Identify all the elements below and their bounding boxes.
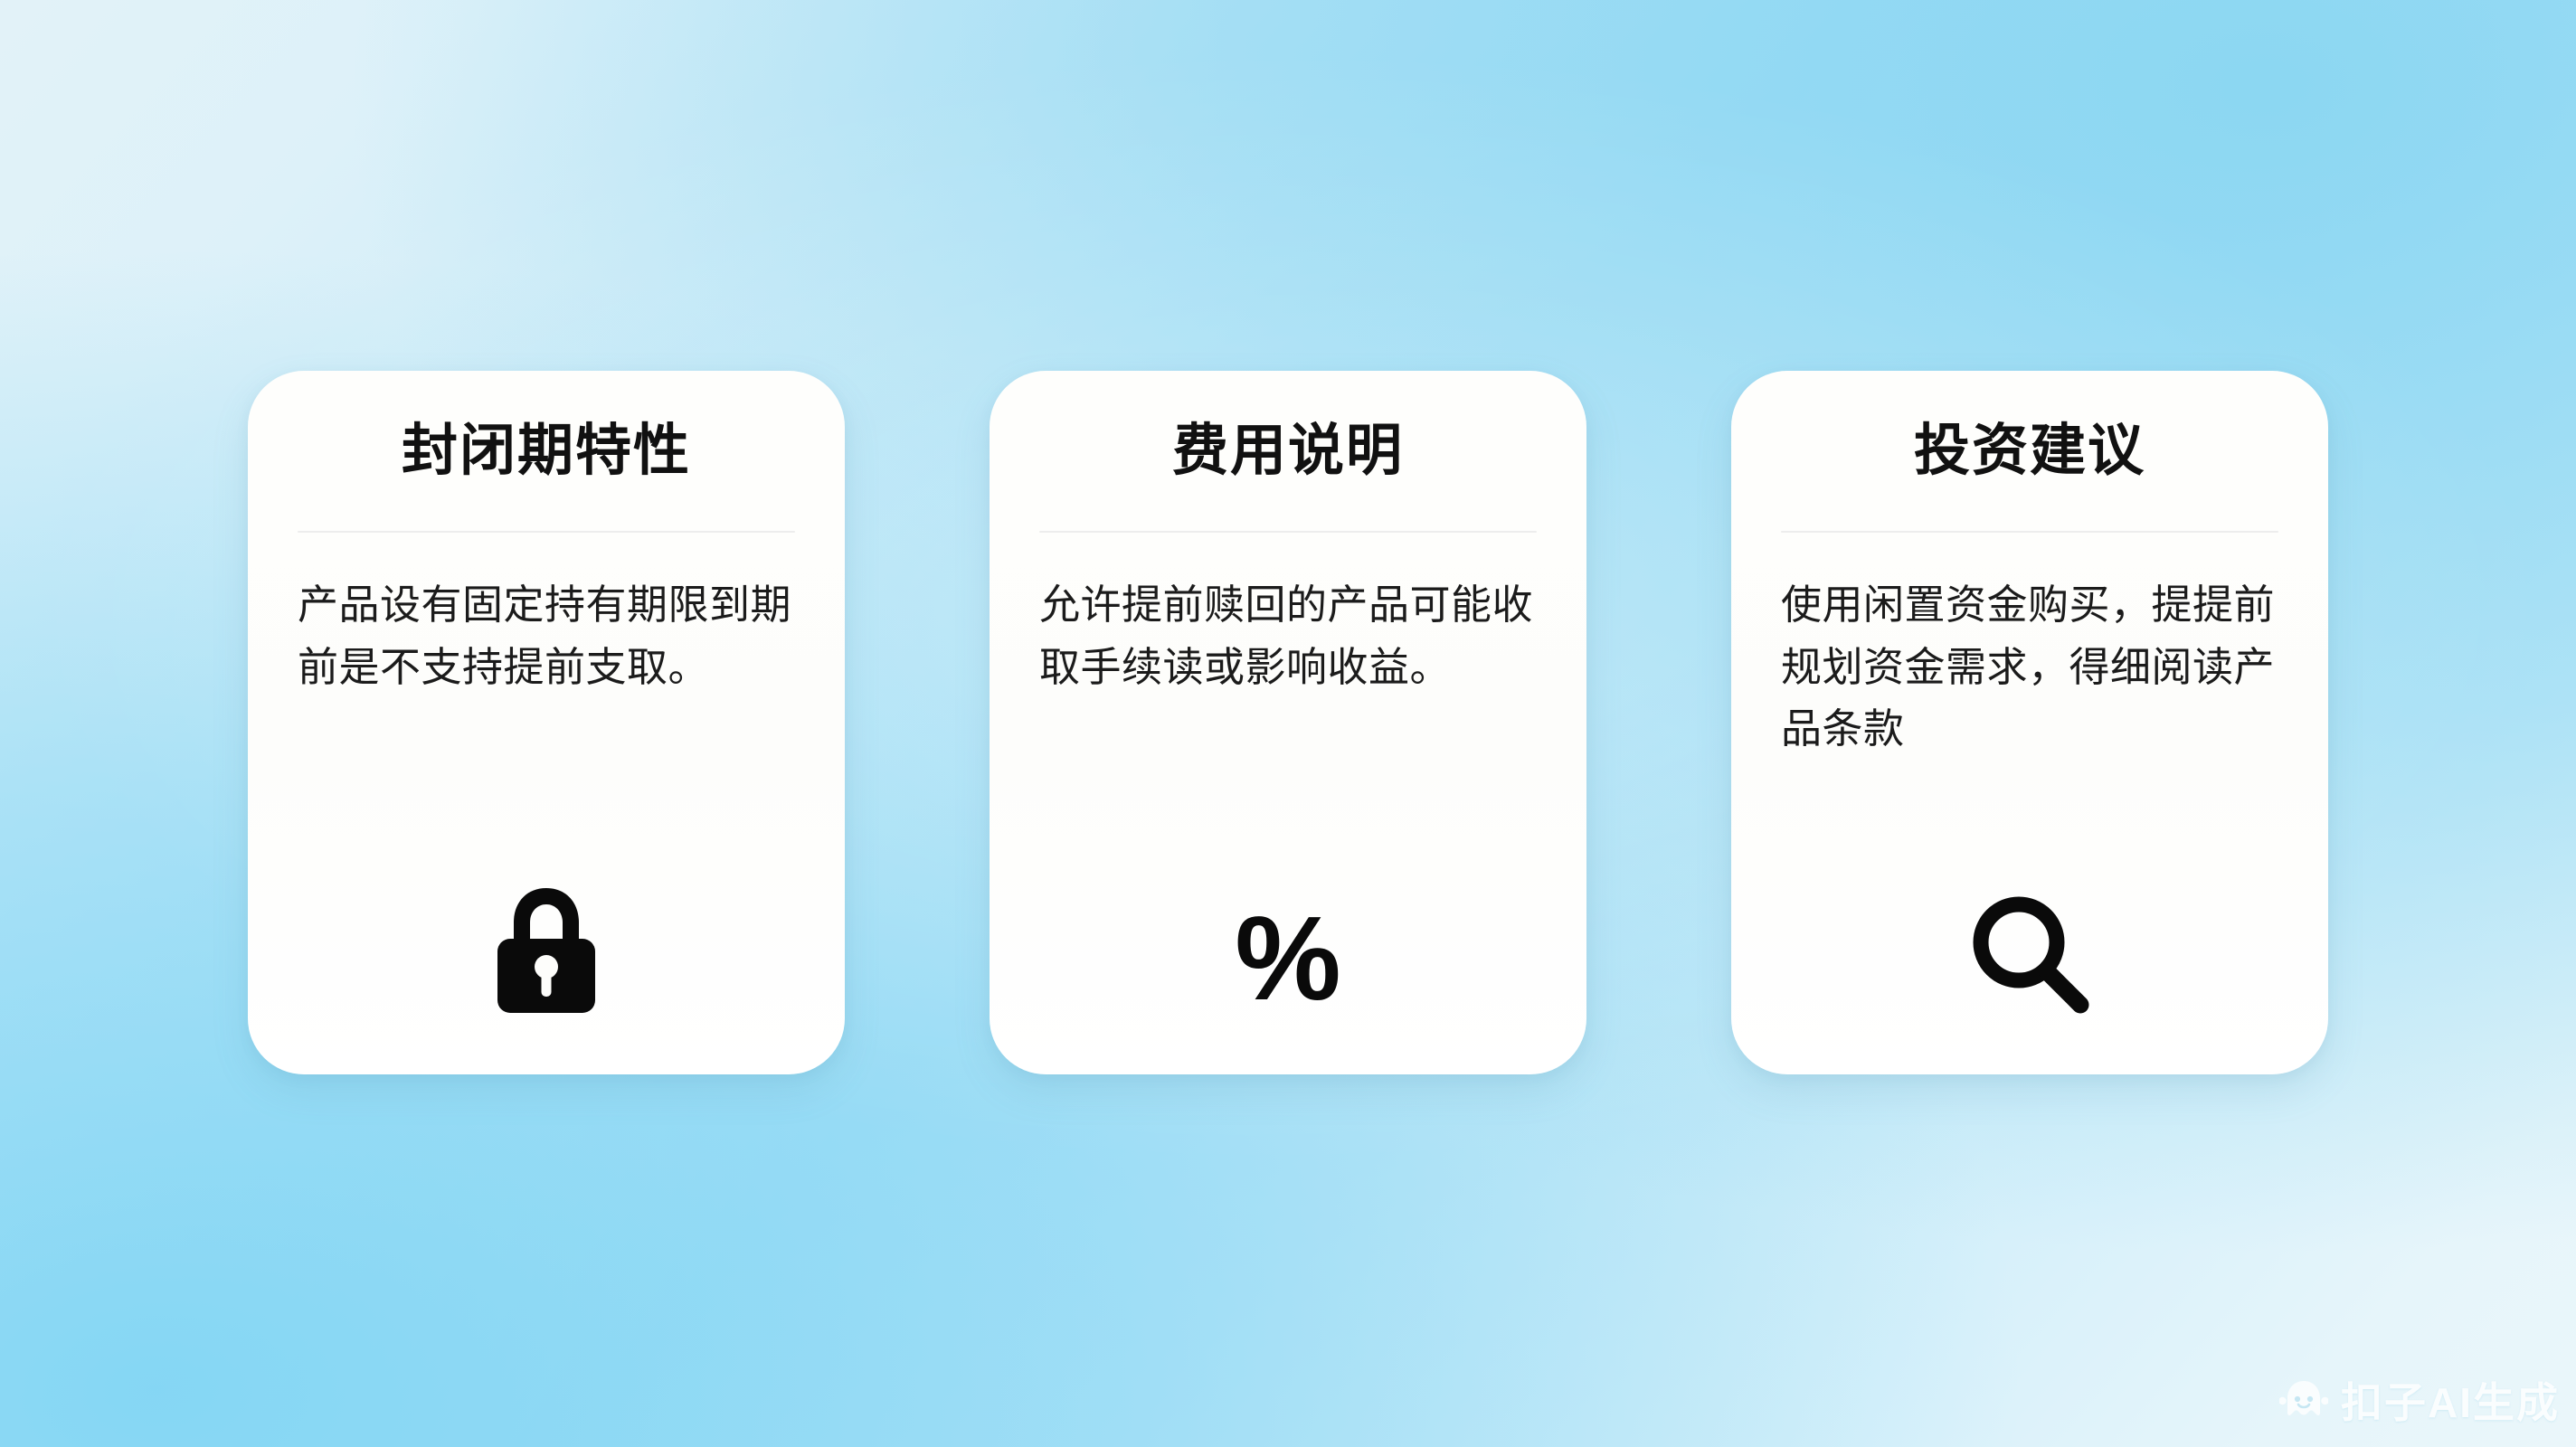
info-card-investment-advice[interactable]: 投资建议 使用闲置资金购买，提提前规划资金需求，得细阅读产品条款 [1731, 371, 2328, 1074]
card-divider [298, 531, 795, 533]
card-title: 投资建议 [1781, 418, 2278, 484]
card-title: 费用说明 [1039, 418, 1537, 484]
card-icon-slot [248, 883, 845, 1018]
card-body-text: 产品设有固定持有期限到期前是不支持提前支取。 [298, 574, 795, 698]
card-divider [1039, 531, 1537, 533]
percent-icon: % [1235, 899, 1340, 1018]
card-title: 封闭期特性 [298, 418, 795, 484]
card-divider [1781, 531, 2278, 533]
info-card-row: 封闭期特性 产品设有固定持有期限到期前是不支持提前支取。 费用说明 允许提前赎回… [0, 371, 2576, 1076]
info-card-closed-period[interactable]: 封闭期特性 产品设有固定持有期限到期前是不支持提前支取。 [248, 371, 845, 1074]
card-body-text: 使用闲置资金购买，提提前规划资金需求，得细阅读产品条款 [1781, 574, 2278, 760]
card-icon-slot [1731, 883, 2328, 1018]
lock-icon [490, 883, 602, 1018]
card-icon-slot: % [990, 883, 1586, 1018]
info-card-fee-notes[interactable]: 费用说明 允许提前赎回的产品可能收取手续读或影响收益。 % [990, 371, 1586, 1074]
search-icon [1966, 890, 2093, 1018]
card-body-text: 允许提前赎回的产品可能收取手续读或影响收益。 [1039, 574, 1537, 698]
